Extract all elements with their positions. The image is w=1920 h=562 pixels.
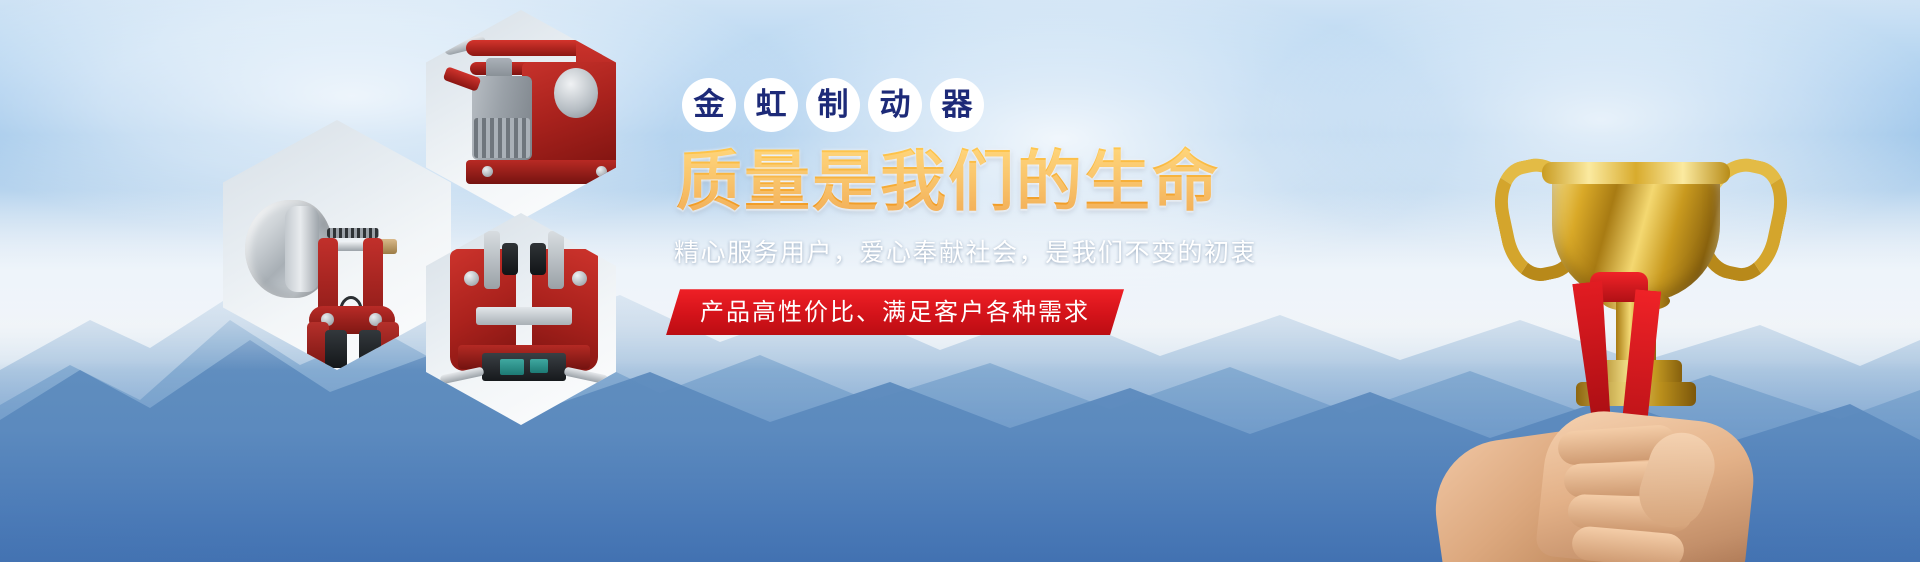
brand-char-0: 金	[682, 78, 736, 132]
product-hexagon-2[interactable]	[426, 10, 616, 220]
brand-char-2: 制	[806, 78, 860, 132]
product-hexagon-1[interactable]	[223, 120, 451, 370]
adjuster-knob-left	[464, 271, 479, 286]
base-bolt-right	[596, 166, 607, 177]
trophy-rim	[1542, 162, 1730, 184]
promo-banner: 金 虹 制 动 器 质量是我们的生命 精心服务用户，爱心奉献社会，是我们不变的初…	[0, 0, 1920, 562]
actuator-core	[482, 353, 566, 381]
fork-right	[548, 231, 564, 289]
brake-shoe-left	[325, 330, 347, 368]
product-image-thruster-brake	[426, 10, 616, 220]
brand-name: 金 虹 制 动 器	[682, 78, 1280, 132]
spring	[327, 228, 379, 238]
product-image-disc-brake-caliper	[426, 213, 616, 425]
brand-char-1: 虹	[744, 78, 798, 132]
terminal-block-a	[500, 359, 524, 375]
subheadline: 精心服务用户，爱心奉献社会，是我们不变的初衷	[674, 233, 1280, 269]
brake-drum	[554, 68, 598, 118]
trophy-illustration	[1430, 132, 1830, 562]
headline: 质量是我们的生命	[676, 146, 1280, 217]
base-bolt-left	[482, 166, 493, 177]
product-hexagon-cluster	[218, 8, 638, 428]
banner-copy: 金 虹 制 动 器 质量是我们的生命 精心服务用户，爱心奉献社会，是我们不变的初…	[660, 78, 1280, 335]
terminal-block-b	[530, 359, 548, 373]
brake-pad-right	[530, 243, 546, 275]
fork-left	[484, 231, 500, 289]
adjuster-knob-right	[572, 271, 587, 286]
tagline-text: 产品高性价比、满足客户各种需求	[700, 289, 1090, 335]
mounting-plate	[476, 307, 572, 325]
brand-char-3: 动	[868, 78, 922, 132]
brand-char-4: 器	[930, 78, 984, 132]
product-image-pneumatic-drum-brake	[223, 120, 451, 370]
cooling-fins	[474, 118, 530, 158]
brake-shoe-right	[359, 330, 381, 368]
tagline-ribbon: 产品高性价比、满足客户各种需求	[666, 289, 1124, 335]
brake-pad-left	[502, 243, 518, 275]
product-hexagon-3[interactable]	[426, 213, 616, 425]
drum-cap	[285, 206, 319, 292]
